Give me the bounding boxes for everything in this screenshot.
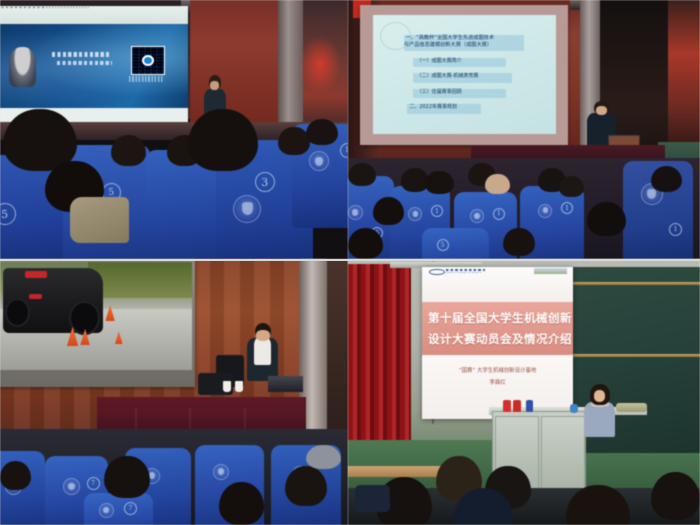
seat-crest-icon bbox=[63, 478, 80, 495]
slide-agenda-item: （三）往届赛事回顾 bbox=[417, 90, 462, 96]
podium-door bbox=[541, 416, 585, 488]
bottle bbox=[526, 400, 534, 412]
audience-head bbox=[348, 228, 383, 259]
slide-header-band bbox=[0, 6, 188, 23]
audience-head bbox=[104, 456, 149, 499]
seat-crest-icon bbox=[233, 195, 261, 223]
student-backpack bbox=[355, 485, 390, 512]
slide-race-car-photo bbox=[0, 262, 192, 371]
seat-crest-icon bbox=[408, 207, 422, 221]
red-light-glow bbox=[299, 36, 341, 93]
seat-crest-icon bbox=[348, 205, 363, 220]
slide-title-line-2: 设计大赛动员会及情况介绍 bbox=[428, 331, 567, 347]
photo-bottom-left: 7 7 bbox=[0, 259, 348, 525]
slide-campus-photo bbox=[534, 268, 567, 274]
photo-bottom-right: 第十届全国大学生机械创新 设计大赛动员会及情况介绍 “国赛” 大学生机械创新设计… bbox=[348, 259, 700, 525]
slide-surface: 一、“高教杯”全国大学生先进成图技术 与产品信息建模创新大赛（成图大赛） （一）… bbox=[373, 15, 556, 134]
slide-agenda-item: 与产品信息建模创新大赛（成图大赛） bbox=[404, 43, 492, 49]
chalk-rail bbox=[562, 282, 700, 285]
slide-subtitle-line-1: “国赛” 大学生机械创新设计基地 bbox=[437, 366, 558, 374]
qr-code bbox=[131, 46, 164, 75]
projection-screen bbox=[0, 6, 188, 123]
far-wall bbox=[327, 259, 348, 429]
slide-presenter-name: 李霖红 bbox=[437, 378, 558, 386]
slide-headline-line-2 bbox=[57, 61, 112, 65]
red-light-glow bbox=[668, 0, 700, 153]
chalk-rail bbox=[562, 354, 700, 357]
car-livery-red bbox=[25, 271, 47, 279]
seat-number: 7 bbox=[87, 477, 100, 490]
seat-crest-icon bbox=[99, 503, 114, 518]
scientist-portrait bbox=[9, 47, 36, 87]
slide-header-band bbox=[422, 267, 573, 302]
audience-head bbox=[306, 445, 341, 469]
university-logo-icon bbox=[429, 269, 445, 276]
slide-university-logo-text bbox=[0, 7, 44, 9]
slide-agenda-item: 二、2022年赛事规划 bbox=[409, 105, 457, 111]
seat-number: 3 bbox=[255, 172, 275, 192]
slide-college-subtitle-text bbox=[46, 7, 89, 8]
paper-cup bbox=[223, 381, 231, 392]
collage-seam bbox=[0, 259, 700, 261]
slide-title-band: 第十届全国大学生机械创新 设计大赛动员会及情况介绍 bbox=[422, 302, 573, 355]
laptop bbox=[268, 376, 303, 392]
seat-number: 1 bbox=[669, 223, 682, 236]
car-livery-red bbox=[29, 294, 42, 299]
audience-head bbox=[188, 109, 258, 171]
photo-top-left: 5 5 3 1 bbox=[0, 0, 348, 259]
seat-crest-icon bbox=[213, 464, 229, 480]
audience-head bbox=[503, 228, 535, 256]
audience-head bbox=[348, 163, 376, 186]
audience-head bbox=[111, 135, 146, 166]
audience-head bbox=[425, 171, 453, 194]
seat-row: 5 bbox=[422, 228, 489, 259]
slide-body bbox=[0, 24, 188, 108]
projection-screen: 一、“高教杯”全国大学生先进成图技术 与产品信息建模创新大赛（成图大赛） （一）… bbox=[360, 5, 568, 145]
student-head bbox=[651, 472, 700, 520]
bottle bbox=[503, 400, 511, 412]
projection-screen bbox=[0, 259, 195, 387]
speaker-figure bbox=[584, 384, 616, 437]
qr-caption-text bbox=[129, 76, 162, 82]
slide-university-name-en bbox=[446, 272, 482, 273]
seat-crest-icon bbox=[538, 204, 552, 218]
seat-crest-icon bbox=[470, 209, 484, 223]
seat-number: 5 bbox=[0, 203, 16, 225]
seat-number: 7 bbox=[124, 502, 137, 515]
desk-items bbox=[616, 403, 648, 412]
audience-head bbox=[278, 127, 309, 155]
slide-headline-line-1 bbox=[52, 52, 110, 56]
bottle bbox=[570, 404, 578, 413]
seat-number: 1 bbox=[340, 143, 348, 158]
grass-area bbox=[88, 262, 192, 299]
slide-agenda-item: （一）成图大赛简介 bbox=[417, 59, 462, 65]
slide-agenda-item: （二）成图大赛-机械类竞赛 bbox=[417, 74, 479, 80]
projection-screen: 第十届全国大学生机械创新 设计大赛动员会及情况介绍 “国赛” 大学生机械创新设计… bbox=[422, 267, 573, 419]
slide-title-line-1: 第十届全国大学生机械创新 bbox=[428, 310, 567, 326]
seat-number: 1 bbox=[431, 205, 443, 217]
photo-collage: 5 5 3 1 bbox=[0, 0, 700, 525]
slide-agenda-item: 一、“高教杯”全国大学生先进成图技术 bbox=[406, 36, 494, 42]
audience-head bbox=[0, 461, 31, 490]
audience-head bbox=[219, 482, 264, 525]
audience-head bbox=[306, 119, 337, 145]
seat-number: 1 bbox=[493, 208, 505, 220]
paper-cup bbox=[235, 381, 243, 392]
audience-head bbox=[587, 202, 626, 236]
seat-crest-icon bbox=[309, 151, 329, 171]
bottle bbox=[513, 400, 521, 412]
seat-number: 5 bbox=[437, 239, 449, 251]
audience-head bbox=[285, 466, 327, 506]
audience-head bbox=[559, 176, 584, 197]
seat-number: 1 bbox=[561, 202, 573, 214]
photo-top-right: 一、“高教杯”全国大学生先进成图技术 与产品信息建模创新大赛（成图大赛） （一）… bbox=[348, 0, 700, 259]
audience-head bbox=[485, 174, 510, 195]
seat-row: 7 bbox=[84, 493, 154, 525]
car-wheel bbox=[5, 298, 30, 326]
audience-head bbox=[651, 166, 683, 192]
qr-center-logo bbox=[144, 57, 152, 64]
audience-head bbox=[373, 197, 405, 225]
audience-bag bbox=[70, 197, 129, 244]
red-curtain bbox=[348, 264, 411, 456]
